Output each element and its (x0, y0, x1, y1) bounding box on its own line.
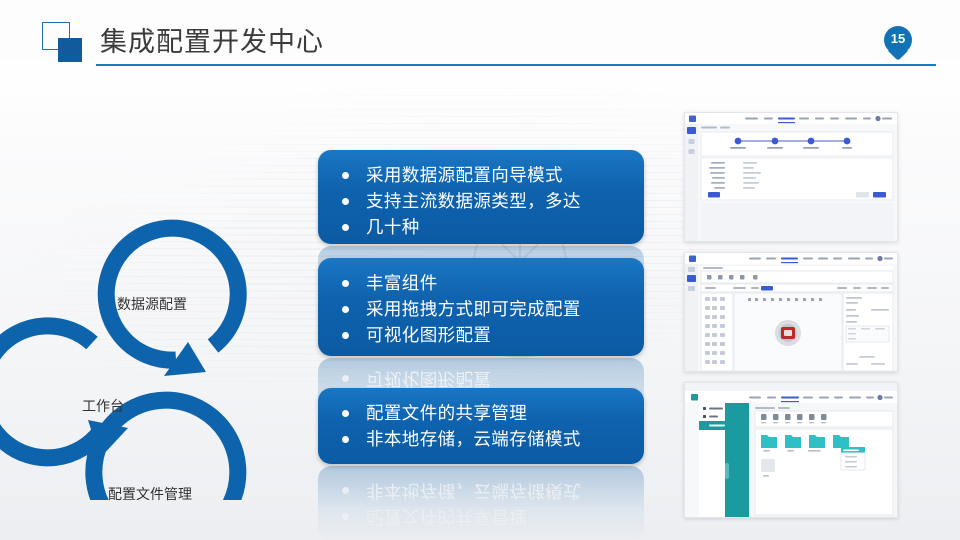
bullet-item: 可视化图形配置 (340, 323, 628, 348)
bullet-item-continuation: 几十种 (340, 215, 628, 240)
cycle-step-label-2: 工作台 (48, 397, 158, 416)
header-divider (96, 64, 936, 66)
map-pin-icon: 15 (884, 26, 912, 60)
box-reflection-3: 配置文件的共享管理 非本地存储，云端存储模式 (318, 466, 644, 540)
cycle-step-label-3: 配置文件管理 (98, 485, 202, 504)
bullet-item: 丰富组件 (340, 271, 628, 296)
process-cycle-diagram: 数据源配置 工作台 配置文件管理 (0, 110, 300, 500)
reflection-line: 非本地存储，云端存储模式 (340, 478, 628, 503)
bullet-list: 丰富组件 采用拖拽方式即可完成配置 可视化图形配置 (340, 271, 628, 348)
page-number: 15 (884, 26, 912, 52)
bullet-list: 配置文件的共享管理 非本地存储，云端存储模式 (340, 401, 628, 452)
logo-filled-square (58, 38, 82, 62)
screenshot-visual-designer[interactable] (684, 252, 898, 372)
square-logo-icon (42, 22, 86, 66)
page-title: 集成配置开发中心 (100, 20, 324, 59)
screenshot-datasource-wizard[interactable] (684, 112, 898, 242)
slide: 集成配置开发中心 15 数据源配置 工作台 配置文件管理 (0, 0, 960, 540)
bullet-item: 配置文件的共享管理 (340, 401, 628, 426)
bullet-list: 采用数据源配置向导模式 支持主流数据源类型，多达 几十种 (340, 163, 628, 240)
bullet-item: 采用拖拽方式即可完成配置 (340, 297, 628, 322)
bullet-item: 支持主流数据源类型，多达 (340, 189, 628, 214)
bullet-item: 非本地存储，云端存储模式 (340, 427, 628, 452)
reflection-line: 配置文件的共享管理 (340, 504, 628, 529)
bullet-item: 采用数据源配置向导模式 (340, 163, 628, 188)
content-box-filemanage: 配置文件的共享管理 非本地存储，云端存储模式 (318, 388, 644, 464)
content-box-datasource: 采用数据源配置向导模式 支持主流数据源类型，多达 几十种 (318, 150, 644, 244)
content-box-workbench: 丰富组件 采用拖拽方式即可完成配置 可视化图形配置 (318, 258, 644, 356)
cycle-step-label-1: 数据源配置 (92, 295, 212, 314)
screenshot-file-manager[interactable] (684, 382, 898, 518)
